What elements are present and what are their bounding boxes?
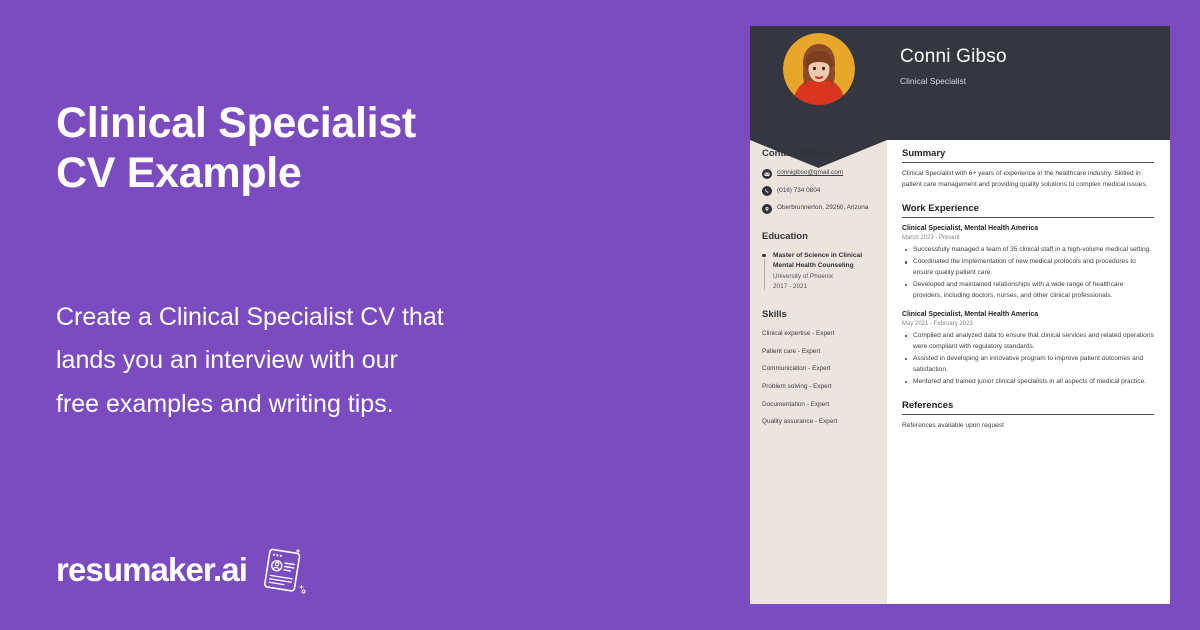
summary-section: Summary Clinical Specialist with 6+ year… [902,148,1154,190]
cv-preview-card[interactable]: Conni Gibso Clinical Specialist Contact … [750,26,1170,604]
bullet-dot-icon [762,254,766,258]
work-experience-heading: Work Experience [902,203,1154,218]
promo-body-text: Create a Clinical Specialist CV that lan… [56,296,526,426]
promo-panel: Clinical Specialist CV Example Create a … [0,0,750,630]
contact-phone-row[interactable]: (016) 734 0804 [762,186,880,197]
promo-headline: Clinical Specialist CV Example [56,98,656,199]
cv-main-content: Summary Clinical Specialist with 6+ year… [902,148,1154,445]
skill-item: Clinical expertise - Expert [762,329,880,339]
job-bullet: Coordinated the implementation of new me… [902,257,1154,278]
work-experience-section: Work Experience Clinical Specialist, Men… [902,203,1154,387]
references-text: References available upon request [902,421,1154,432]
job-bullet-list: Compiled and analyzed data to ensure tha… [902,331,1154,387]
job-bullet: Successfully managed a team of 35 clinic… [902,245,1154,256]
skill-item: Communication - Expert [762,364,880,374]
job-date: March 2023 - Present [902,234,1154,243]
job-title: Clinical Specialist, Mental Health Ameri… [902,224,1154,234]
phone-icon [762,186,772,196]
skill-item: Problem solving - Expert [762,382,880,392]
resumaker-logo[interactable]: resumaker.ai [56,541,309,597]
education-school: University of Phoenix [773,272,880,282]
contact-details-section: Contact Details connigibso@gmail.com (01… [762,148,880,214]
summary-text: Clinical Specialist with 6+ years of exp… [902,169,1154,190]
job-bullet-list: Successfully managed a team of 35 clinic… [902,245,1154,301]
cv-candidate-name: Conni Gibso [900,46,1007,68]
job-bullet: Mentored and trained junior clinical spe… [902,377,1154,388]
job-entry: Clinical Specialist, Mental Health Ameri… [902,310,1154,387]
education-heading: Education [762,231,880,242]
envelope-icon [762,169,772,179]
job-title: Clinical Specialist, Mental Health Ameri… [902,310,1154,320]
location-pin-icon [762,204,772,214]
contact-email-text: connigibso@gmail.com [777,168,843,178]
education-section: Education Master of Science in Clinical … [762,231,880,293]
job-bullet: Assisted in developing an innovative pro… [902,354,1154,375]
resume-document-icon [253,541,309,597]
timeline-line [764,259,765,291]
skills-section: Skills Clinical expertise - Expert Patie… [762,309,880,427]
cv-candidate-role: Clinical Specialist [900,76,966,86]
job-bullet: Developed and maintained relationships w… [902,280,1154,301]
cv-profile-photo [783,33,855,105]
skill-item: Quality assurance - Expert [762,417,880,427]
contact-details-heading: Contact Details [762,148,880,159]
job-bullet: Compiled and analyzed data to ensure tha… [902,331,1154,352]
skills-heading: Skills [762,309,880,320]
education-item: Master of Science in Clinical Mental Hea… [762,251,880,293]
job-entry: Clinical Specialist, Mental Health Ameri… [902,224,1154,301]
summary-heading: Summary [902,148,1154,163]
contact-address-row[interactable]: Oberbrunnerton, 29260, Arizona [762,203,880,214]
references-section: References References available upon req… [902,400,1154,432]
cv-sidebar-content: Contact Details connigibso@gmail.com (01… [762,148,880,435]
job-date: May 2021 - February 2023 [902,320,1154,329]
contact-phone-text: (016) 734 0804 [777,186,820,196]
contact-email-row[interactable]: connigibso@gmail.com [762,168,880,179]
references-heading: References [902,400,1154,415]
skill-item: Patient care - Expert [762,347,880,357]
logo-wordmark: resumaker.ai [56,553,247,586]
skill-item: Documentation - Expert [762,400,880,410]
contact-address-text: Oberbrunnerton, 29260, Arizona [777,203,868,213]
education-years: 2017 - 2021 [773,282,880,292]
education-degree: Master of Science in Clinical Mental Hea… [773,251,880,272]
